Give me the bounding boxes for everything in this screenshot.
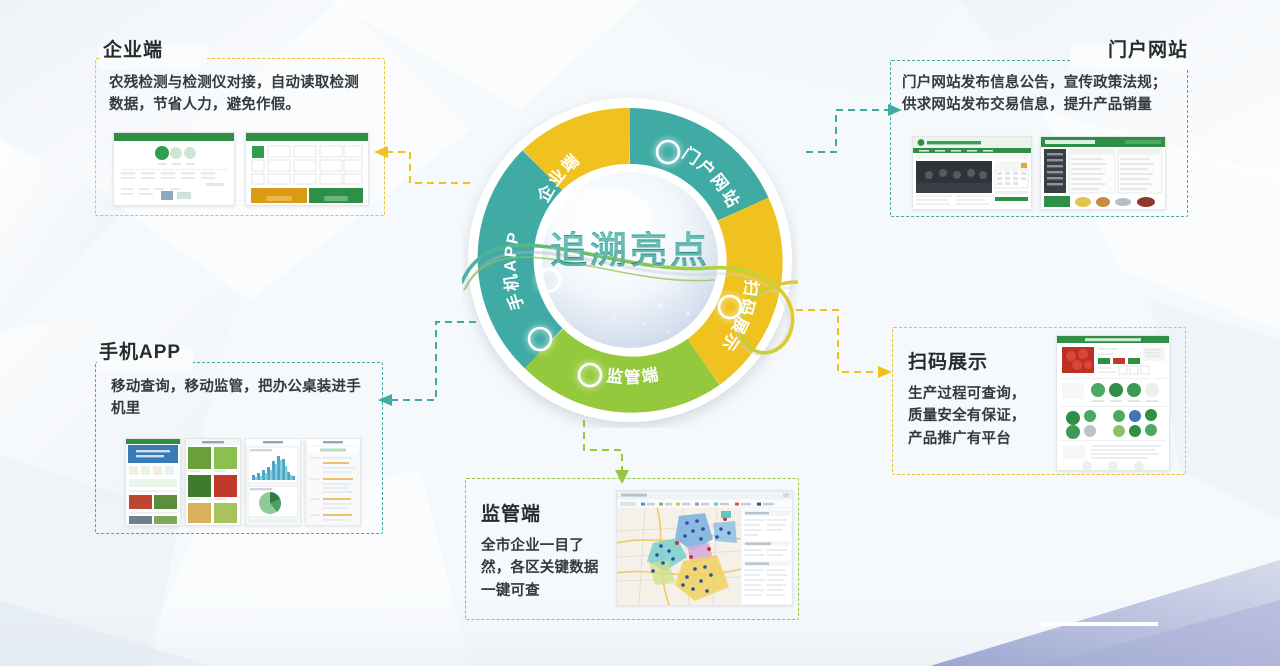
wheel-center-title: 追溯亮点 bbox=[462, 220, 798, 274]
card-qrcode[interactable]: 扫码展示 生产过程可查询，质量安全有保证，产品推广有平台 bbox=[892, 327, 1186, 475]
shot-body bbox=[246, 141, 368, 205]
shot-body bbox=[1057, 336, 1169, 470]
connector-portal bbox=[806, 110, 888, 152]
card-portal-title: 门户网站 bbox=[1108, 41, 1188, 60]
card-enterprise-title: 企业端 bbox=[103, 41, 163, 60]
shot-body bbox=[913, 137, 1031, 209]
screenshot-enterprise-1 bbox=[113, 132, 235, 206]
shot-body bbox=[114, 141, 234, 205]
shot-body bbox=[1041, 137, 1165, 209]
card-enterprise-desc: 农残检测与检测仪对接，自动读取检测数据，节省人力，避免作假。 bbox=[109, 72, 371, 117]
screenshot-app-1 bbox=[125, 438, 181, 526]
shot-header bbox=[114, 133, 234, 141]
card-mobileapp[interactable]: 手机APP 移动查询，移动监管，把办公桌装进手机里 bbox=[95, 362, 383, 534]
screenshot-supervise-map bbox=[616, 490, 793, 606]
connector-qrcode bbox=[796, 310, 878, 372]
shot-header bbox=[246, 133, 368, 141]
screenshot-qrcode bbox=[1056, 335, 1170, 471]
card-enterprise[interactable]: 企业端 农残检测与检测仪对接，自动读取检测数据，节省人力，避免作假。 bbox=[95, 58, 385, 216]
card-mobileapp-desc: 移动查询，移动监管，把办公桌装进手机里 bbox=[111, 376, 367, 421]
card-supervise[interactable]: 监管端 全市企业一目了然，各区关键数据一键可查 bbox=[465, 478, 799, 620]
screenshot-app-4 bbox=[305, 438, 361, 526]
shot-body bbox=[186, 439, 240, 525]
arrowhead-qrcode bbox=[878, 366, 892, 378]
screenshot-portal-1 bbox=[912, 136, 1032, 210]
card-supervise-desc: 全市企业一目了然，各区关键数据一键可查 bbox=[481, 535, 611, 602]
card-portal-desc: 门户网站发布信息公告，宣传政策法规；供求网站发布交易信息，提升产品销量 bbox=[902, 72, 1174, 117]
screenshot-app-3 bbox=[245, 438, 301, 526]
shot-body bbox=[126, 439, 180, 525]
card-supervise-title: 监管端 bbox=[481, 505, 541, 524]
shot-body bbox=[617, 491, 792, 605]
card-mobileapp-title: 手机APP bbox=[99, 343, 181, 362]
traceability-wheel: 企业端 门户网站 扫码展示 监管端 手机APP 追溯亮点 bbox=[462, 92, 798, 428]
card-qrcode-desc: 生产过程可查询，质量安全有保证，产品推广有平台 bbox=[908, 383, 1040, 450]
shot-body bbox=[246, 439, 300, 525]
card-qrcode-title: 扫码展示 bbox=[908, 353, 988, 372]
shot-body bbox=[306, 439, 360, 525]
screenshot-app-2 bbox=[185, 438, 241, 526]
screenshot-enterprise-2 bbox=[245, 132, 369, 206]
connector-enterprise bbox=[388, 152, 470, 183]
card-portal[interactable]: 门户网站 门户网站发布信息公告，宣传政策法规；供求网站发布交易信息，提升产品销量 bbox=[890, 60, 1188, 217]
infographic-canvas: 企业端 门户网站 扫码展示 监管端 手机APP 追溯亮点 企业端 农残检测与检测… bbox=[0, 0, 1280, 666]
screenshot-portal-2 bbox=[1040, 136, 1166, 210]
